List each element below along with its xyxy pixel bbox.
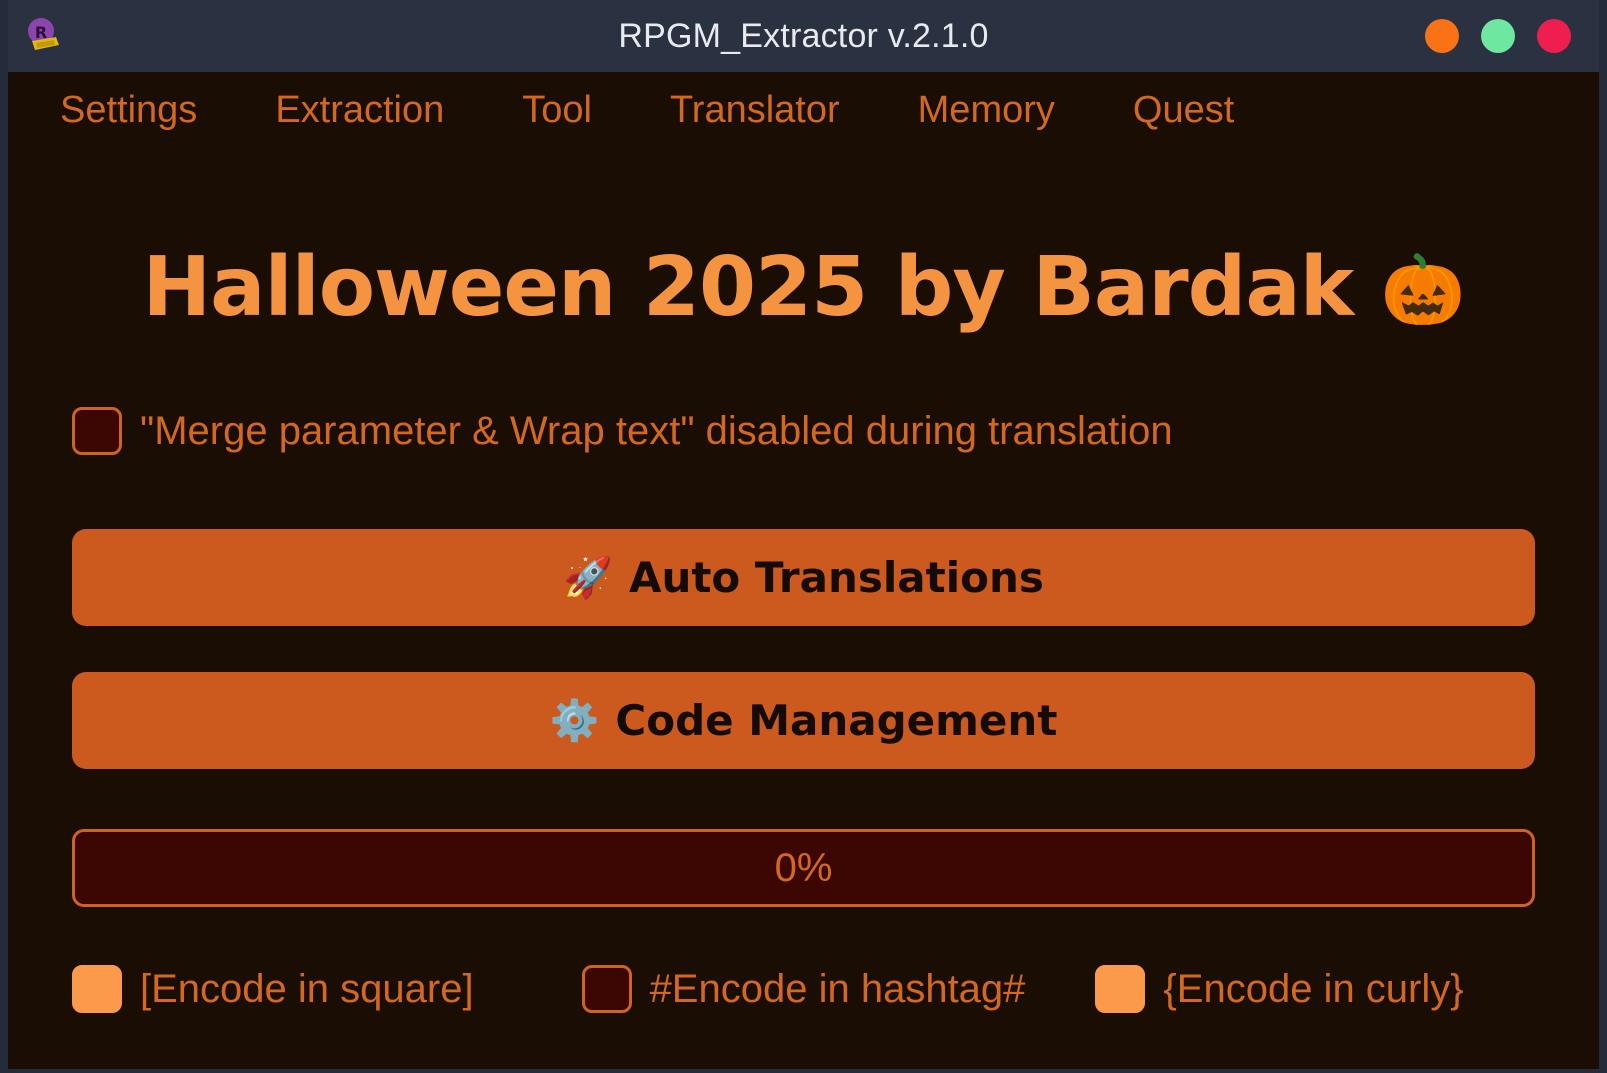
page-title-text: Halloween 2025 by Bardak bbox=[143, 240, 1354, 335]
window-title: RPGM_Extractor v.2.1.0 bbox=[8, 17, 1599, 56]
menu-item-tool[interactable]: Tool bbox=[522, 89, 592, 132]
encode-hashtag-checkbox[interactable] bbox=[582, 965, 632, 1013]
menu-bar: Settings Extraction Tool Translator Memo… bbox=[8, 72, 1599, 148]
gear-icon: ⚙️ bbox=[550, 697, 600, 744]
page-title: Halloween 2025 by Bardak 🎃 bbox=[72, 240, 1535, 335]
pumpkin-icon: 🎃 bbox=[1381, 251, 1465, 330]
encode-hashtag-checkbox-row[interactable]: #Encode in hashtag# bbox=[582, 965, 1026, 1013]
code-management-button[interactable]: ⚙️ Code Management bbox=[72, 672, 1535, 769]
maximize-button[interactable] bbox=[1481, 19, 1515, 53]
title-bar: R RPGM_Extractor v.2.1.0 bbox=[8, 0, 1599, 72]
menu-item-translator[interactable]: Translator bbox=[670, 89, 840, 132]
menu-item-memory[interactable]: Memory bbox=[918, 89, 1055, 132]
main-content: Halloween 2025 by Bardak 🎃 "Merge parame… bbox=[8, 240, 1599, 1013]
window-controls bbox=[1425, 0, 1571, 72]
rpgm-app-icon: R bbox=[22, 14, 66, 58]
close-button[interactable] bbox=[1537, 19, 1571, 53]
progress-bar: 0% bbox=[72, 829, 1535, 907]
progress-bar-label: 0% bbox=[775, 846, 833, 891]
code-management-label: Code Management bbox=[615, 696, 1057, 745]
menu-item-extraction[interactable]: Extraction bbox=[275, 89, 444, 132]
encode-options-row: [Encode in square] #Encode in hashtag# {… bbox=[72, 965, 1535, 1013]
merge-parameter-label: "Merge parameter & Wrap text" disabled d… bbox=[140, 409, 1173, 454]
encode-curly-checkbox[interactable] bbox=[1095, 965, 1145, 1013]
minimize-button[interactable] bbox=[1425, 19, 1459, 53]
encode-square-checkbox[interactable] bbox=[72, 965, 122, 1013]
menu-item-quest[interactable]: Quest bbox=[1133, 89, 1234, 132]
merge-parameter-checkbox[interactable] bbox=[72, 407, 122, 455]
rocket-icon: 🚀 bbox=[563, 554, 613, 601]
auto-translations-label: Auto Translations bbox=[629, 553, 1044, 602]
encode-square-label: [Encode in square] bbox=[140, 967, 474, 1012]
auto-translations-button[interactable]: 🚀 Auto Translations bbox=[72, 529, 1535, 626]
encode-hashtag-label: #Encode in hashtag# bbox=[650, 967, 1026, 1012]
encode-square-checkbox-row[interactable]: [Encode in square] bbox=[72, 965, 474, 1013]
app-window: R RPGM_Extractor v.2.1.0 Settings Extrac… bbox=[0, 0, 1607, 1073]
encode-curly-label: {Encode in curly} bbox=[1163, 967, 1463, 1012]
menu-item-settings[interactable]: Settings bbox=[60, 89, 197, 132]
merge-parameter-checkbox-row[interactable]: "Merge parameter & Wrap text" disabled d… bbox=[72, 407, 1535, 455]
encode-curly-checkbox-row[interactable]: {Encode in curly} bbox=[1095, 965, 1463, 1013]
